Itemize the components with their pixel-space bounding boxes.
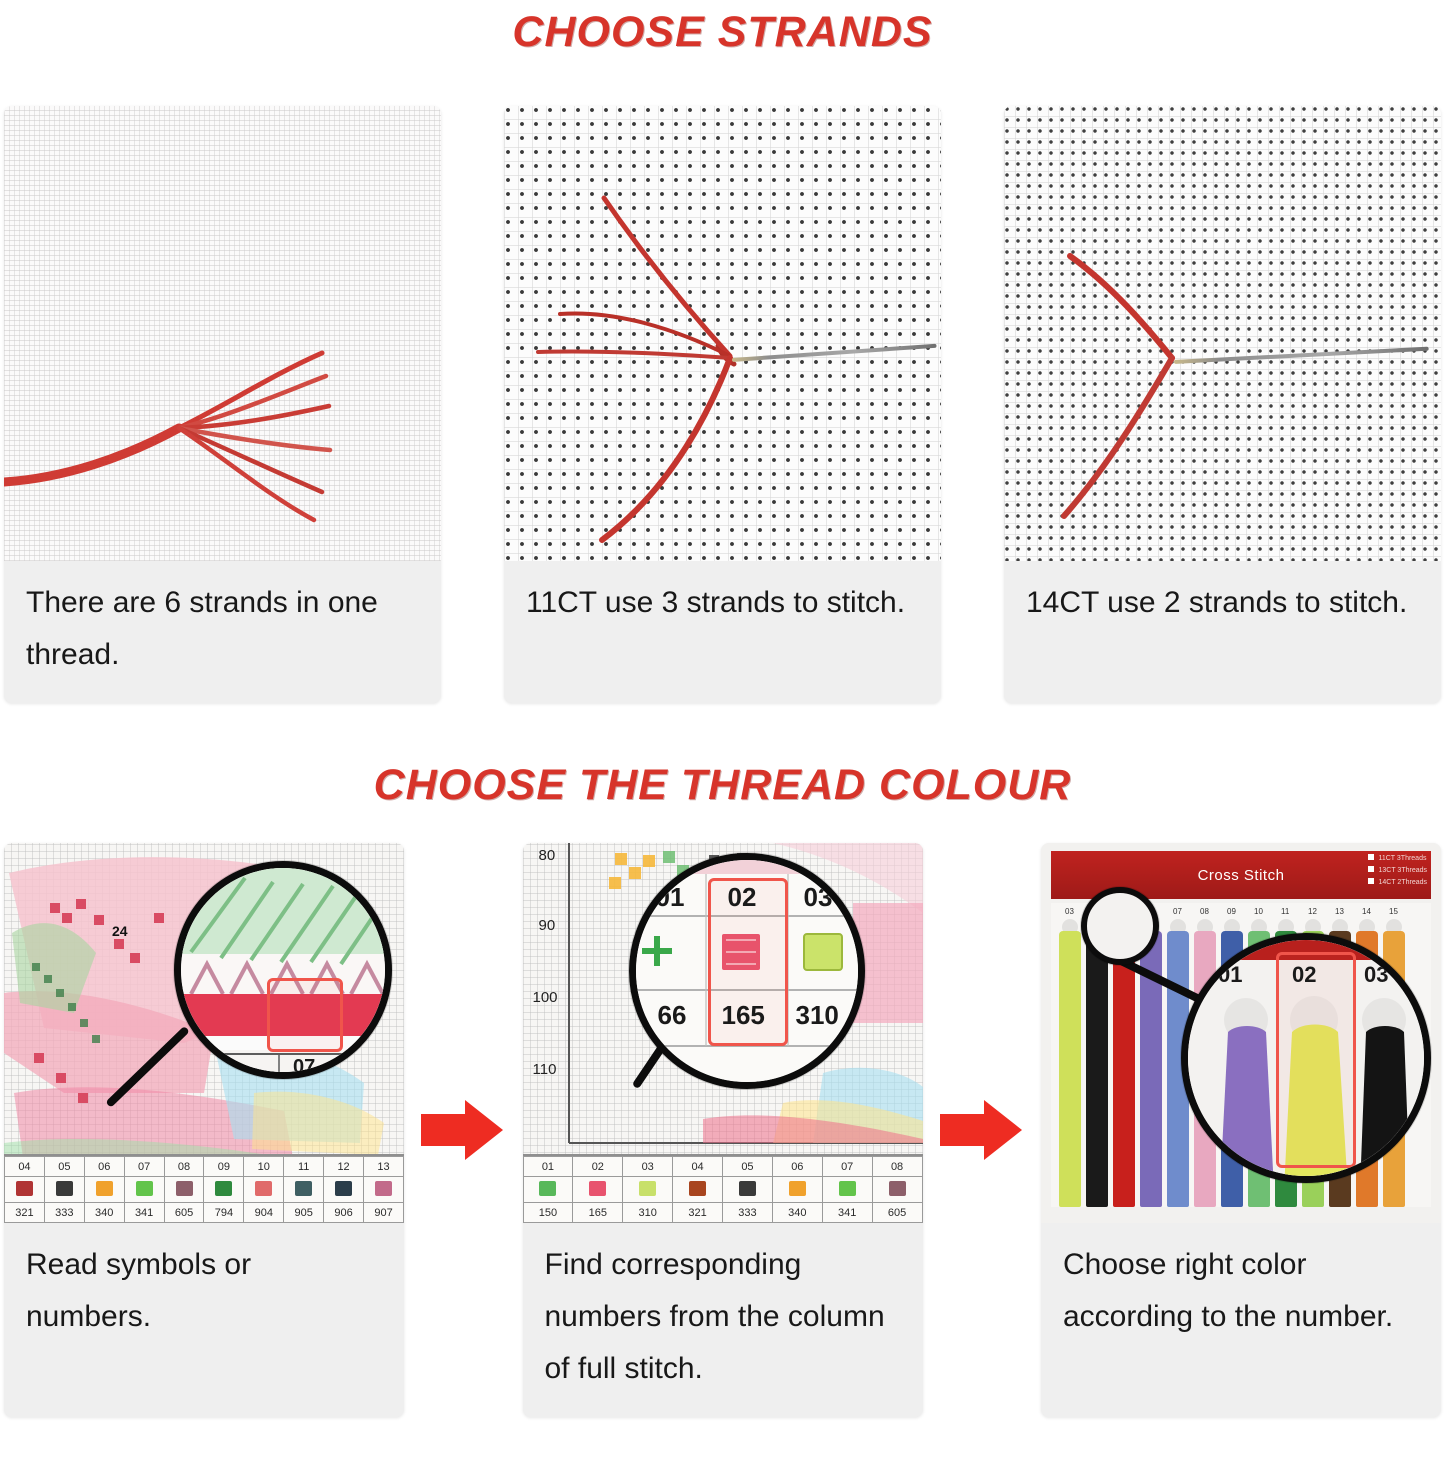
card-find-numbers: 80 90 100 110 (523, 843, 923, 1417)
page-title-choose-thread-colour: CHOOSE THE THREAD COLOUR (0, 755, 1445, 811)
legend-number-row: 0102030405060708 (523, 1157, 922, 1177)
legend-number-cell: 11 (284, 1157, 324, 1177)
pattern-chart-photo: 24 (4, 843, 404, 1223)
legend-swatch (589, 1181, 606, 1196)
card-14ct: 14CT use 2 strands to stitch. (1004, 106, 1441, 703)
legend-code-cell: 165 (573, 1203, 623, 1223)
pattern-cell-label: 24 (112, 923, 128, 939)
legend-symbol-cell (364, 1177, 404, 1203)
ct-option-2: 14CT 2Threads (1368, 877, 1427, 889)
caption-find-numbers: Find corresponding numbers from the colu… (523, 1223, 923, 1417)
legend-symbol-cell (84, 1177, 124, 1203)
magnifier-lens[interactable] (1081, 887, 1159, 965)
magnifier-code-165: 165 (722, 1000, 765, 1031)
skein-number-label: 10 (1254, 907, 1263, 916)
skein-number-label: 09 (1227, 907, 1236, 916)
legend-number-cell: 12 (324, 1157, 364, 1177)
symbol-legend-table: 0405060708091011121332133334034160579490… (4, 1154, 404, 1223)
row-label-90: 90 (539, 917, 556, 934)
legend-number-cell: 02 (573, 1157, 623, 1177)
legend-number-cell: 04 (673, 1157, 723, 1177)
legend-number-cell: 01 (523, 1157, 573, 1177)
plain-weave-fabric-photo (4, 106, 441, 561)
thread-skein[interactable] (1059, 931, 1081, 1207)
page-title-choose-strands: CHOOSE STRANDS (0, 0, 1445, 58)
legend-symbol-cell (5, 1177, 45, 1203)
card-six-strands: There are 6 strands in one thread. (4, 106, 441, 703)
thread-colour-row: 24 (0, 843, 1445, 1417)
card-read-symbols: 24 (4, 843, 404, 1417)
ct-option-1: 13CT 3Threads (1368, 865, 1427, 877)
thread-card-title-text: Cross Stitch (1198, 867, 1285, 884)
legend-number-cell: 03 (623, 1157, 673, 1177)
arrow-step-2-to-3 (940, 1100, 1024, 1160)
legend-code-cell: 907 (364, 1203, 404, 1223)
legend-code-cell: 333 (723, 1203, 773, 1223)
thread-card-photo: Cross Stitch 11CT 3Threads 13CT 3Threads… (1041, 843, 1441, 1223)
six-strands-graphic (4, 106, 441, 561)
skein-number-label: 12 (1308, 907, 1317, 916)
magnifier-number-03: 03 (804, 882, 833, 913)
legend-number-cell: 07 (822, 1157, 872, 1177)
legend-code-cell: 905 (284, 1203, 324, 1223)
skein-number-label: 03 (1065, 907, 1074, 916)
legend-swatch (96, 1181, 113, 1196)
legend-number-cell: 05 (44, 1157, 84, 1177)
legend-number-cell: 10 (244, 1157, 284, 1177)
row-label-80: 80 (539, 847, 556, 864)
magnifier-lens[interactable]: 01 02 03 66 165 310 (629, 853, 865, 1089)
legend-number-cell: 09 (204, 1157, 244, 1177)
legend-symbol-cell (822, 1177, 872, 1203)
legend-code-cell: 310 (623, 1203, 673, 1223)
magnifier-code-66: 66 (658, 1000, 687, 1031)
legend-symbol-cell (204, 1177, 244, 1203)
caption-choose-colour: Choose right color according to the numb… (1041, 1223, 1441, 1365)
legend-number-cell: 08 (164, 1157, 204, 1177)
legend-number-cell: 06 (84, 1157, 124, 1177)
caption-six-strands: There are 6 strands in one thread. (4, 561, 441, 703)
legend-symbol-cell (623, 1177, 673, 1203)
legend-symbol-cell (772, 1177, 822, 1203)
row-label-110: 110 (533, 1061, 557, 1078)
legend-symbol-row (5, 1177, 404, 1203)
arrow-step-1-to-2 (421, 1100, 505, 1160)
legend-code-cell: 340 (84, 1203, 124, 1223)
legend-swatch (739, 1181, 756, 1196)
card-11ct: 11CT use 3 strands to stitch. (504, 106, 941, 703)
legend-symbol-cell (164, 1177, 204, 1203)
legend-swatch (839, 1181, 856, 1196)
legend-symbol-cell (872, 1177, 922, 1203)
three-strands-graphic (504, 106, 941, 561)
legend-code-cell: 150 (523, 1203, 573, 1223)
thread-skein[interactable] (1086, 931, 1108, 1207)
skein-number-label: 08 (1200, 907, 1209, 916)
caption-11ct: 11CT use 3 strands to stitch. (504, 561, 941, 651)
magnifier-code-310: 310 (796, 1000, 839, 1031)
legend-number-cell: 08 (872, 1157, 922, 1177)
legend-code-cell: 605 (164, 1203, 204, 1223)
legend-swatch (375, 1181, 392, 1196)
legend-swatch (539, 1181, 556, 1196)
legend-code-cell: 321 (5, 1203, 45, 1223)
skein-number-label: 13 (1335, 907, 1344, 916)
caption-read-symbols: Read symbols or numbers. (4, 1223, 404, 1365)
skein-number-label: 07 (1173, 907, 1182, 916)
legend-number-cell: 04 (5, 1157, 45, 1177)
magnifier-number-01: 01 (656, 882, 685, 913)
legend-number-cell: 07 (124, 1157, 164, 1177)
magnifier-lens-large[interactable]: 01 02 03 (1181, 933, 1431, 1183)
legend-swatch (136, 1181, 153, 1196)
card-choose-colour: Cross Stitch 11CT 3Threads 13CT 3Threads… (1041, 843, 1441, 1417)
legend-swatch (295, 1181, 312, 1196)
legend-symbol-cell (723, 1177, 773, 1203)
legend-swatch (639, 1181, 656, 1196)
strands-row: There are 6 strands in one thread. 11CT … (0, 106, 1445, 703)
legend-swatch (56, 1181, 73, 1196)
caption-14ct: 14CT use 2 strands to stitch. (1004, 561, 1441, 651)
magnifier-highlight-box (267, 978, 343, 1052)
skein-number-label: 14 (1362, 907, 1371, 916)
legend-code-cell: 321 (673, 1203, 723, 1223)
chart-key-photo: 80 90 100 110 (523, 843, 923, 1223)
legend-swatch (889, 1181, 906, 1196)
legend-swatch (215, 1181, 232, 1196)
legend-swatch (335, 1181, 352, 1196)
aida-11ct-photo (504, 106, 941, 561)
ct-options-list: 11CT 3Threads 13CT 3Threads 14CT 2Thread… (1368, 853, 1427, 889)
legend-symbol-cell (573, 1177, 623, 1203)
symbol-legend-table: 0102030405060708150165310321333340341605 (523, 1154, 923, 1223)
legend-number-cell: 05 (723, 1157, 773, 1177)
legend-symbol-cell (124, 1177, 164, 1203)
legend-code-cell: 605 (872, 1203, 922, 1223)
legend-code-cell: 340 (772, 1203, 822, 1223)
legend-code-cell: 341 (822, 1203, 872, 1223)
magnifier-number-02: 02 (728, 882, 757, 913)
row-label-100: 100 (533, 989, 558, 1006)
legend-symbol-cell (523, 1177, 573, 1203)
two-strands-graphic (1004, 106, 1441, 561)
legend-swatch (789, 1181, 806, 1196)
skein-number-label: 11 (1281, 907, 1289, 916)
legend-symbol-cell (324, 1177, 364, 1203)
legend-swatch (176, 1181, 193, 1196)
legend-symbol-cell (284, 1177, 324, 1203)
ct-option-0: 11CT 3Threads (1368, 853, 1427, 865)
legend-code-cell: 794 (204, 1203, 244, 1223)
skein-number-label: 15 (1389, 907, 1398, 916)
legend-code-row: 321333340341605794904905906907 (5, 1203, 404, 1223)
legend-number-cell: 06 (772, 1157, 822, 1177)
legend-number-row: 04050607080910111213 (5, 1157, 404, 1177)
legend-code-cell: 904 (244, 1203, 284, 1223)
skein-number-01: 01 (1218, 962, 1242, 988)
legend-symbol-row (523, 1177, 922, 1203)
legend-symbol-cell (244, 1177, 284, 1203)
legend-swatch (689, 1181, 706, 1196)
thread-skein[interactable] (1113, 931, 1135, 1207)
legend-symbol-cell (44, 1177, 84, 1203)
legend-swatch (255, 1181, 272, 1196)
legend-code-row: 150165310321333340341605 (523, 1203, 922, 1223)
legend-number-cell: 13 (364, 1157, 404, 1177)
skein-number-03: 03 (1364, 962, 1388, 988)
aida-14ct-photo (1004, 106, 1441, 561)
magnifier-lens[interactable]: 06 07 (174, 861, 392, 1079)
skein-number-02: 02 (1292, 962, 1316, 988)
legend-code-cell: 333 (44, 1203, 84, 1223)
legend-code-cell: 906 (324, 1203, 364, 1223)
legend-code-cell: 341 (124, 1203, 164, 1223)
legend-swatch (16, 1181, 33, 1196)
legend-symbol-cell (673, 1177, 723, 1203)
